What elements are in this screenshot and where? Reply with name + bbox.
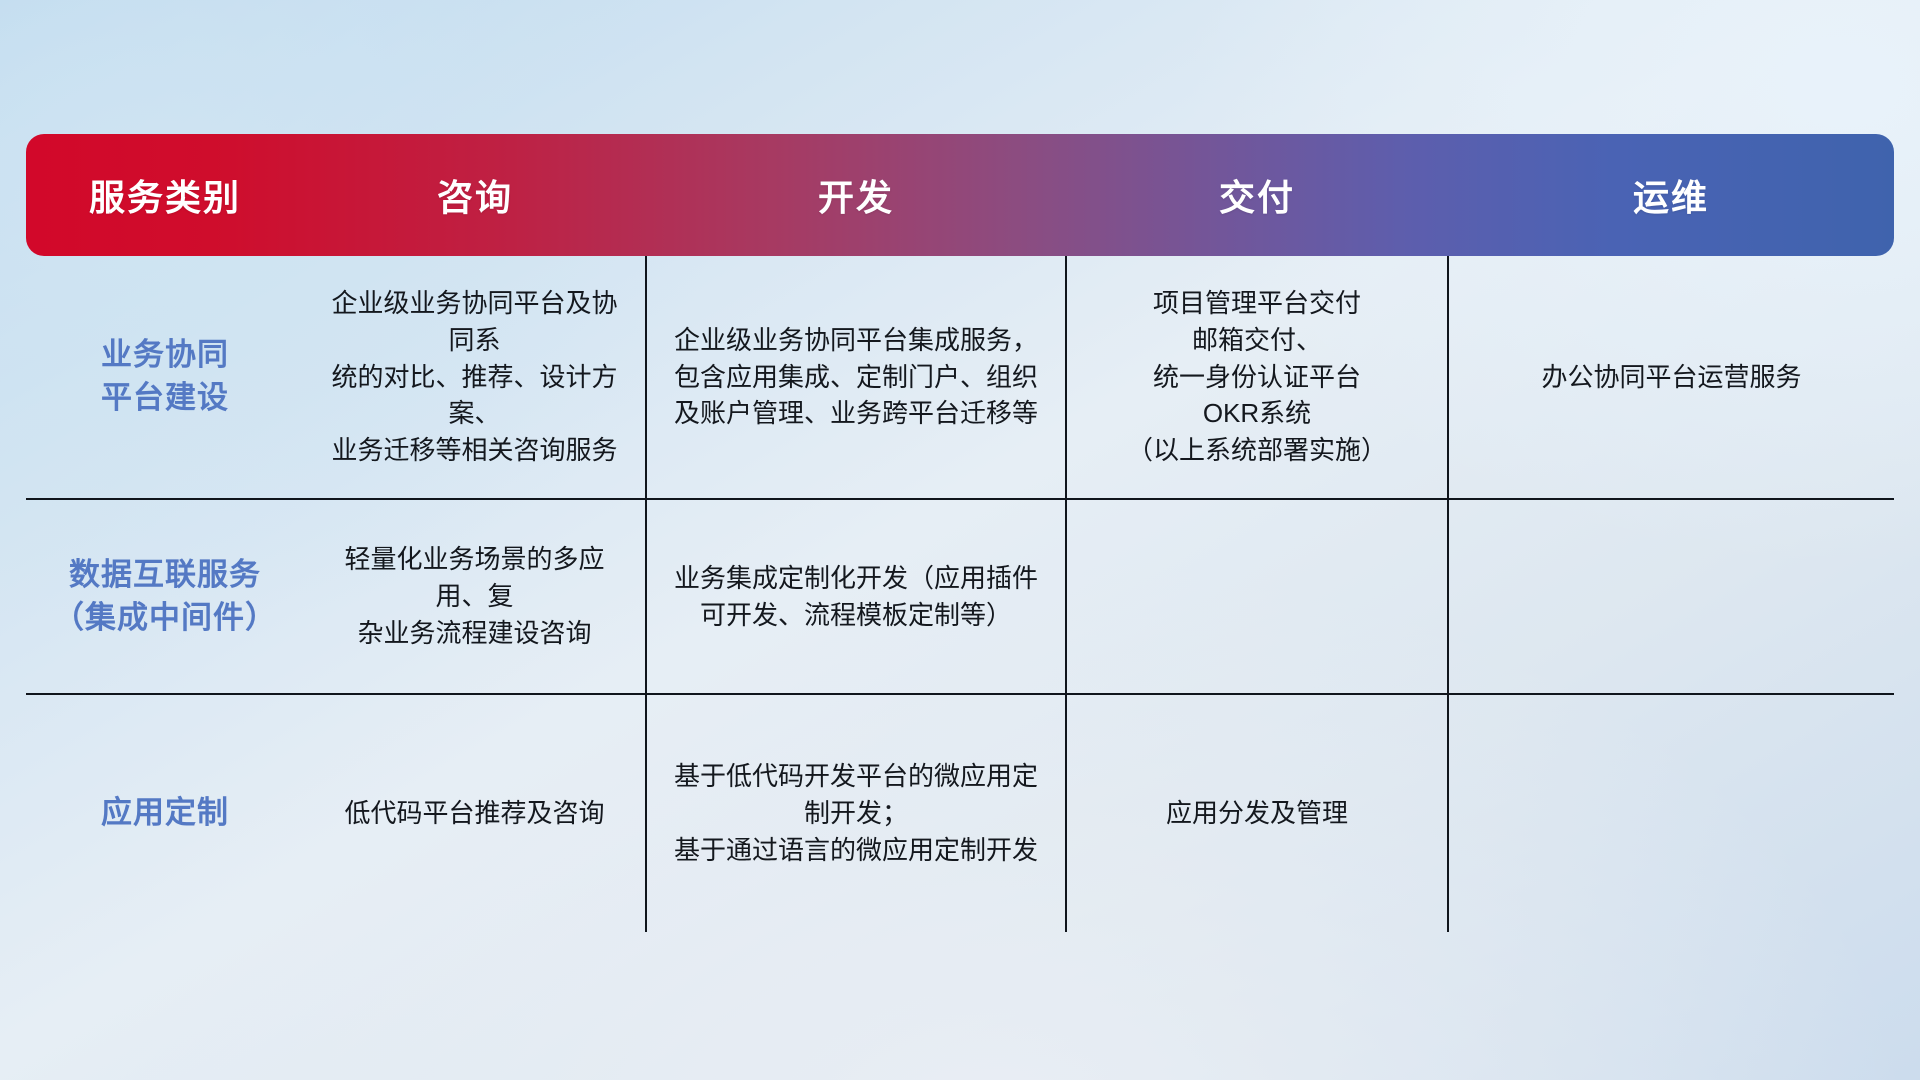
header-consulting: 咨询 — [304, 134, 646, 256]
cell-line: 制开发； — [665, 795, 1047, 832]
cell-operations-row2 — [1448, 499, 1894, 694]
cell-line: 低代码平台推荐及咨询 — [322, 795, 627, 832]
cell-development-row2: 业务集成定制化开发（应用插件 可开发、流程模板定制等） — [646, 499, 1066, 694]
cell-line: 统的对比、推荐、设计方案、 — [322, 359, 627, 433]
table-header: 服务类别 咨询 开发 交付 运维 — [26, 134, 1894, 256]
row-category-data-integration: 数据互联服务 （集成中间件） — [26, 499, 304, 694]
header-service-category-label: 服务类别 — [26, 169, 304, 221]
category-line: 应用定制 — [44, 792, 286, 835]
header-service-category: 服务类别 — [26, 134, 304, 256]
cell-line: 业务集成定制化开发（应用插件 — [665, 560, 1047, 597]
cell-line: 可开发、流程模板定制等） — [665, 597, 1047, 634]
header-operations: 运维 — [1448, 134, 1894, 256]
cell-line: 杂业务流程建设咨询 — [322, 615, 627, 652]
cell-development-row3: 基于低代码开发平台的微应用定 制开发； 基于通过语言的微应用定制开发 — [646, 694, 1066, 932]
header-consulting-label: 咨询 — [304, 169, 646, 221]
table: 服务类别 咨询 开发 交付 运维 — [26, 134, 1894, 932]
cell-line: 及账户管理、业务跨平台迁移等 — [665, 395, 1047, 432]
cell-development-row1: 企业级业务协同平台集成服务， 包含应用集成、定制门户、组织 及账户管理、业务跨平… — [646, 256, 1066, 499]
header-operations-label: 运维 — [1448, 169, 1894, 221]
cell-line: 包含应用集成、定制门户、组织 — [665, 359, 1047, 396]
cell-operations-row1: 办公协同平台运营服务 — [1448, 256, 1894, 499]
slide-canvas: 服务类别 咨询 开发 交付 运维 — [0, 0, 1920, 1080]
cell-line: 邮箱交付、 — [1085, 322, 1429, 359]
category-line: 平台建设 — [44, 377, 286, 420]
header-development-label: 开发 — [646, 169, 1066, 221]
cell-line: 企业级业务协同平台集成服务， — [665, 322, 1047, 359]
cell-line: 办公协同平台运营服务 — [1467, 359, 1876, 396]
cell-line: 基于通过语言的微应用定制开发 — [665, 832, 1047, 869]
row-category-business-collaboration: 业务协同 平台建设 — [26, 256, 304, 499]
header-row: 服务类别 咨询 开发 交付 运维 — [26, 134, 1894, 256]
cell-line: 轻量化业务场景的多应用、复 — [322, 541, 627, 615]
cell-line: 统一身份认证平台 — [1085, 359, 1429, 396]
cell-delivery-row3: 应用分发及管理 — [1066, 694, 1448, 932]
cell-delivery-row2 — [1066, 499, 1448, 694]
category-line: 数据互联服务 — [44, 554, 286, 597]
header-delivery-label: 交付 — [1066, 169, 1448, 221]
service-matrix-table: 服务类别 咨询 开发 交付 运维 — [26, 134, 1894, 954]
header-development: 开发 — [646, 134, 1066, 256]
cell-line: 企业级业务协同平台及协同系 — [322, 285, 627, 359]
cell-line: 应用分发及管理 — [1085, 795, 1429, 832]
cell-consulting-row1: 企业级业务协同平台及协同系 统的对比、推荐、设计方案、 业务迁移等相关咨询服务 — [304, 256, 646, 499]
cell-line: 基于低代码开发平台的微应用定 — [665, 758, 1047, 795]
cell-line: 项目管理平台交付 — [1085, 285, 1429, 322]
table-row: 数据互联服务 （集成中间件） 轻量化业务场景的多应用、复 杂业务流程建设咨询 业… — [26, 499, 1894, 694]
category-line: 业务协同 — [44, 334, 286, 377]
cell-line: （以上系统部署实施） — [1085, 432, 1429, 469]
cell-consulting-row2: 轻量化业务场景的多应用、复 杂业务流程建设咨询 — [304, 499, 646, 694]
table-row: 应用定制 低代码平台推荐及咨询 基于低代码开发平台的微应用定 制开发； 基于通过… — [26, 694, 1894, 932]
cell-operations-row3 — [1448, 694, 1894, 932]
cell-consulting-row3: 低代码平台推荐及咨询 — [304, 694, 646, 932]
cell-line: OKR系统 — [1085, 395, 1429, 432]
row-category-app-customization: 应用定制 — [26, 694, 304, 932]
table-body: 业务协同 平台建设 企业级业务协同平台及协同系 统的对比、推荐、设计方案、 业务… — [26, 256, 1894, 932]
header-delivery: 交付 — [1066, 134, 1448, 256]
category-line: （集成中间件） — [44, 597, 286, 640]
cell-delivery-row1: 项目管理平台交付 邮箱交付、 统一身份认证平台 OKR系统 （以上系统部署实施） — [1066, 256, 1448, 499]
table-row: 业务协同 平台建设 企业级业务协同平台及协同系 统的对比、推荐、设计方案、 业务… — [26, 256, 1894, 499]
cell-line: 业务迁移等相关咨询服务 — [322, 432, 627, 469]
